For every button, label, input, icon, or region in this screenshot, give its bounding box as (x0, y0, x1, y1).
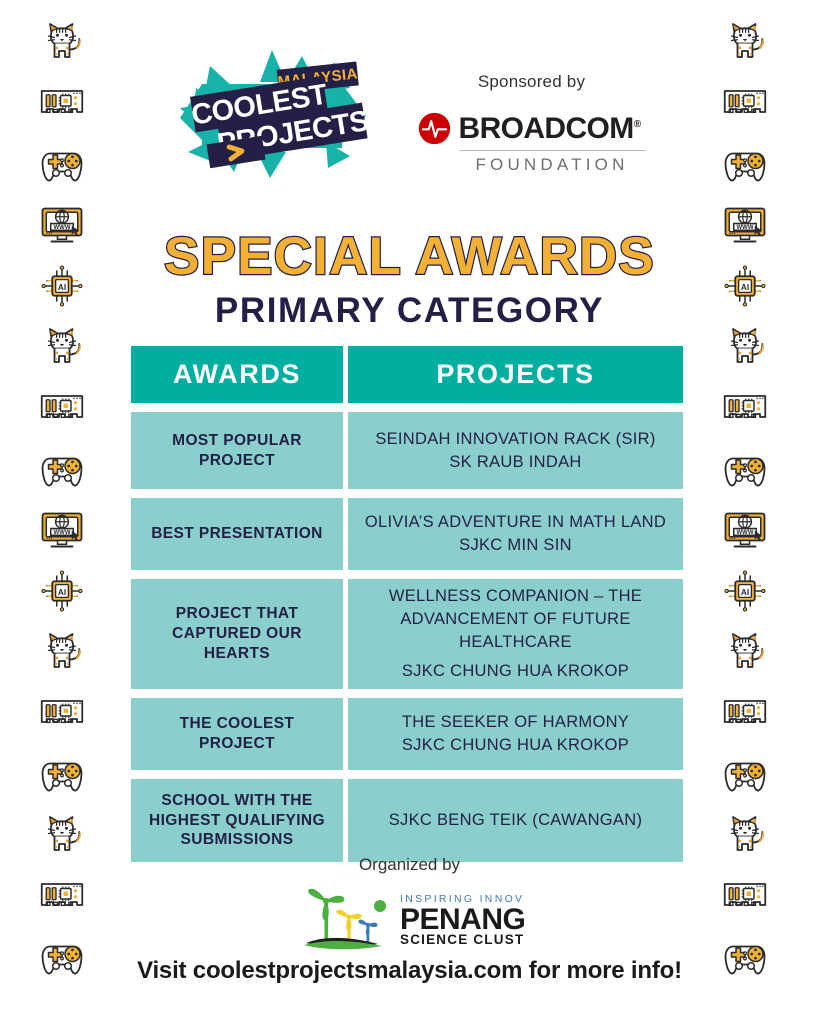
cat-icon (721, 811, 769, 859)
circuit-board-icon (721, 689, 769, 737)
web-monitor-icon: WWW (38, 506, 86, 554)
project-cell: SEINDAH INNOVATION RACK (SIR) SK RAUB IN… (348, 412, 683, 489)
sponsor-block: Sponsored by BROADCOM® FOUNDATION (418, 48, 646, 175)
project-cell: WELLNESS COMPANION – THE ADVANCEMENT OF … (348, 579, 683, 689)
visit-website-text: Visit coolestprojectsmalaysia.com for mo… (0, 957, 819, 985)
awards-table: AWARDS PROJECTS MOST POPULAR PROJECT SEI… (131, 346, 683, 871)
project-title: WELLNESS COMPANION – THE ADVANCEMENT OF … (389, 587, 642, 651)
project-cell: THE SEEKER OF HARMONY SJKC CHUNG HUA KRO… (348, 698, 683, 770)
project-title: SJKC BENG TEIK (CAWANGAN) (389, 811, 643, 829)
award-name: SCHOOL WITH THE HIGHEST QUALIFYING SUBMI… (131, 779, 343, 862)
broadcom-logo: BROADCOM® FOUNDATION (418, 112, 646, 175)
registered-mark: ® (634, 119, 641, 130)
page-subtitle: PRIMARY CATEGORY (0, 291, 819, 331)
project-school: SK RAUB INDAH (375, 451, 655, 474)
svg-text:WWW: WWW (54, 530, 71, 536)
title-block: SPECIAL AWARDS PRIMARY CATEGORY (0, 228, 819, 331)
circuit-board-icon (38, 384, 86, 432)
project-title: THE SEEKER OF HARMONY (402, 713, 629, 731)
circuit-board-icon (38, 872, 86, 920)
table-row: SCHOOL WITH THE HIGHEST QUALIFYING SUBMI… (131, 779, 683, 862)
sponsored-by-label: Sponsored by (478, 72, 585, 92)
broadcom-foundation-label: FOUNDATION (459, 155, 646, 175)
table-row: THE COOLEST PROJECT THE SEEKER OF HARMON… (131, 698, 683, 770)
broadcom-divider (459, 150, 646, 151)
column-header-awards: AWARDS (131, 346, 343, 403)
table-row: MOST POPULAR PROJECT SEINDAH INNOVATION … (131, 412, 683, 489)
circuit-board-icon (721, 872, 769, 920)
cat-icon (721, 628, 769, 676)
table-row: PROJECT THAT CAPTURED OUR HEARTS WELLNES… (131, 579, 683, 689)
cat-icon (38, 811, 86, 859)
column-header-projects: PROJECTS (348, 346, 683, 403)
table-header-row: AWARDS PROJECTS (131, 346, 683, 403)
award-name: THE COOLEST PROJECT (131, 698, 343, 770)
organized-by-label: Organized by (0, 855, 819, 875)
svg-text:WWW: WWW (737, 530, 754, 536)
broadcom-mark-icon (418, 112, 451, 145)
project-school: SJKC CHUNG HUA KROKOP (402, 734, 629, 757)
broadcom-wordmark: BROADCOM® (459, 114, 641, 144)
page-title: SPECIAL AWARDS (0, 228, 819, 285)
award-name: MOST POPULAR PROJECT (131, 412, 343, 489)
game-controller-icon (721, 750, 769, 798)
penang-science-cluster-logo: INSPIRING INNOVATION PENANG SCIENCE CLUS… (296, 884, 524, 952)
ai-chip-icon: AI (38, 567, 86, 615)
svg-text:SCIENCE CLUSTER: SCIENCE CLUSTER (400, 932, 524, 947)
project-title: OLIVIA’S ADVENTURE IN MATH LAND (365, 513, 666, 531)
game-controller-icon (38, 750, 86, 798)
award-name: BEST PRESENTATION (131, 498, 343, 570)
cat-icon (38, 628, 86, 676)
svg-text:AI: AI (741, 588, 749, 597)
poster-header: MALAYSIA COOLEST PROJECTS (0, 48, 819, 208)
project-title: SEINDAH INNOVATION RACK (SIR) (375, 430, 655, 448)
web-monitor-icon: WWW (721, 506, 769, 554)
project-school: SJKC CHUNG HUA KROKOP (358, 660, 673, 683)
coolest-projects-logo: MALAYSIA COOLEST PROJECTS (174, 48, 370, 180)
game-controller-icon (38, 445, 86, 493)
circuit-board-icon (721, 384, 769, 432)
project-cell: SJKC BENG TEIK (CAWANGAN) (348, 779, 683, 862)
award-name: PROJECT THAT CAPTURED OUR HEARTS (131, 579, 343, 689)
svg-text:AI: AI (58, 588, 66, 597)
game-controller-icon (721, 445, 769, 493)
circuit-board-icon (38, 689, 86, 737)
table-row: BEST PRESENTATION OLIVIA’S ADVENTURE IN … (131, 498, 683, 570)
poster-root: WWW AI (0, 0, 819, 1024)
project-cell: OLIVIA’S ADVENTURE IN MATH LAND SJKC MIN… (348, 498, 683, 570)
project-school: SJKC MIN SIN (365, 534, 666, 557)
ai-chip-icon: AI (721, 567, 769, 615)
